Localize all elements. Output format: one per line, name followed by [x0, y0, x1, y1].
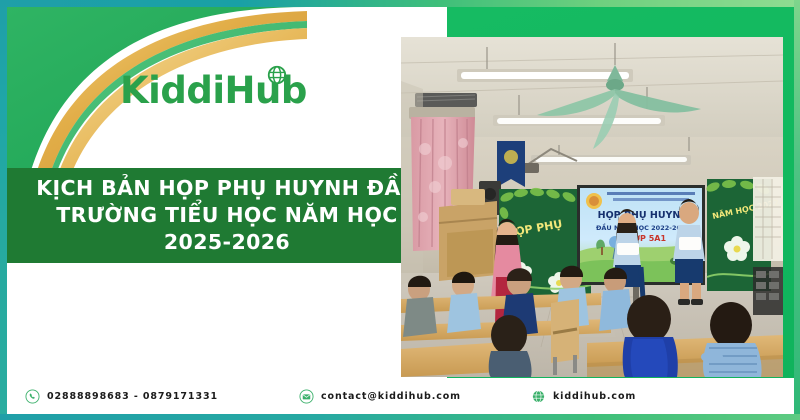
footer-phone-text: 02888898683 - 0879171331 — [47, 391, 218, 402]
envelope-icon — [299, 389, 314, 404]
frame-left-border — [0, 0, 7, 420]
frame-top-border — [0, 0, 800, 7]
frame-bottom-border — [0, 414, 800, 420]
footer-phone[interactable]: 02888898683 - 0879171331 — [25, 389, 218, 404]
logo[interactable]: KiddiHub — [120, 62, 310, 118]
globe-icon — [531, 389, 546, 404]
frame-right-border — [794, 0, 800, 420]
footer-email[interactable]: contact@kiddihub.com — [299, 389, 461, 404]
footer-email-text: contact@kiddihub.com — [321, 391, 461, 402]
page-title-line-1: KỊCH BẢN HỌP PHỤ HUYNH ĐẦU — [36, 175, 418, 202]
classroom-photo: HỌP PHỤ — [401, 37, 783, 377]
poster-canvas: KiddiHub KỊCH BẢN HỌP PHỤ HUYNH ĐẦU TRƯỜ… — [0, 0, 800, 420]
contact-footer: 02888898683 - 0879171331 contact@kiddihu… — [7, 378, 794, 414]
svg-text:HỌP PHỤ HUYNH: HỌP PHỤ HUYNH — [598, 210, 689, 221]
phone-icon — [25, 389, 40, 404]
footer-website-text: kiddihub.com — [553, 391, 636, 402]
page-title-line-3: 2025-2026 — [164, 229, 290, 256]
svg-text:ĐẦU NĂM HỌC 2022-2023: ĐẦU NĂM HỌC 2022-2023 — [596, 222, 690, 232]
ceiling-light — [457, 69, 633, 82]
classroom-photo-illustration: HỌP PHỤ — [401, 37, 783, 377]
page-title-line-2: TRƯỜNG TIỂU HỌC NĂM HỌC — [56, 202, 397, 229]
poster-title-band: KỊCH BẢN HỌP PHỤ HUYNH ĐẦU TRƯỜNG TIỂU H… — [7, 168, 447, 263]
footer-website[interactable]: kiddihub.com — [531, 389, 636, 404]
globe-icon — [266, 64, 288, 86]
